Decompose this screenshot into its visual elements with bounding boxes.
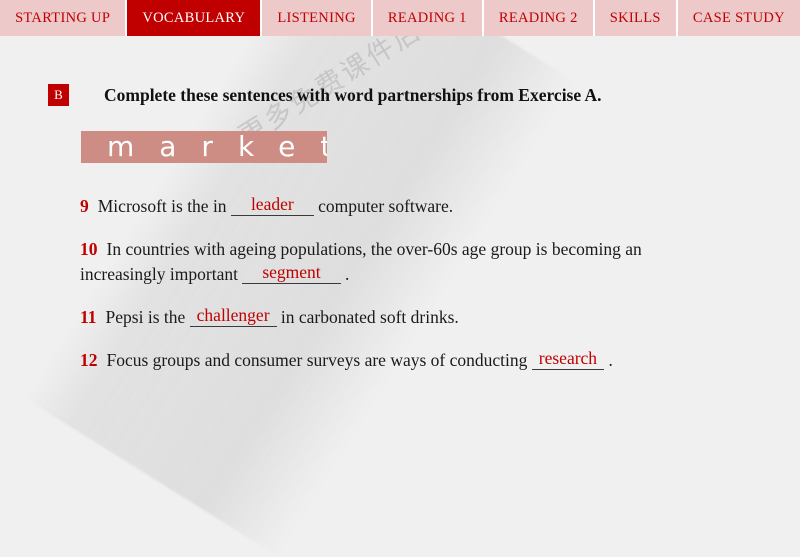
exercise-header: B Complete these sentences with word par… (48, 84, 602, 106)
sentence-text-after: . (341, 264, 350, 284)
sentence-text-before: Microsoft is the in (98, 196, 231, 216)
sentence-item: 12Focus groups and consumer surveys are … (80, 348, 720, 373)
tab-case-study[interactable]: CASE STUDY (678, 0, 800, 36)
sentence-item: 10In countries with ageing populations, … (80, 237, 720, 287)
answer-blank[interactable]: segment (242, 262, 340, 284)
tab-vocabulary[interactable]: VOCABULARY (127, 0, 262, 36)
tab-label: SKILLS (610, 10, 661, 27)
sentence-text-after: . (604, 350, 613, 370)
sentence-number: 11 (80, 307, 97, 327)
tab-label: STARTING UP (15, 10, 110, 27)
sentence-text-before: Pepsi is the (106, 307, 190, 327)
sentence-text-before: In countries with ageing populations, th… (80, 239, 642, 284)
tab-reading-1[interactable]: READING 1 (373, 0, 484, 36)
tab-skills[interactable]: SKILLS (595, 0, 678, 36)
tab-label: VOCABULARY (142, 10, 245, 27)
tab-label: CASE STUDY (693, 10, 785, 27)
sentence-number: 12 (80, 350, 98, 370)
sentence-number: 10 (80, 239, 98, 259)
instruction-text: Complete these sentences with word partn… (104, 85, 602, 106)
tab-reading-2[interactable]: READING 2 (484, 0, 595, 36)
sentence-text-after: computer software. (314, 196, 453, 216)
tab-label: LISTENING (277, 10, 355, 27)
sentence-list: 9Microsoft is the in leader computer sof… (80, 194, 720, 391)
answer-blank[interactable]: challenger (190, 305, 277, 327)
answer-blank[interactable]: leader (231, 194, 314, 216)
sentence-text-after: in carbonated soft drinks. (277, 307, 459, 327)
exercise-badge: B (48, 84, 69, 106)
tab-label: READING 1 (388, 10, 467, 27)
tab-listening[interactable]: LISTENING (262, 0, 373, 36)
tab-label: READING 2 (499, 10, 578, 27)
tab-starting-up[interactable]: STARTING UP (0, 0, 127, 36)
nav-tabbar: STARTING UPVOCABULARYLISTENINGREADING 1R… (0, 0, 800, 36)
market-banner-text: market (107, 131, 327, 163)
sentence-number: 9 (80, 196, 89, 216)
market-banner: market (81, 131, 327, 163)
sentence-item: 11Pepsi is the challenger in carbonated … (80, 305, 720, 330)
sentence-text-before: Focus groups and consumer surveys are wa… (107, 350, 532, 370)
answer-blank[interactable]: research (532, 348, 604, 370)
sentence-item: 9Microsoft is the in leader computer sof… (80, 194, 720, 219)
